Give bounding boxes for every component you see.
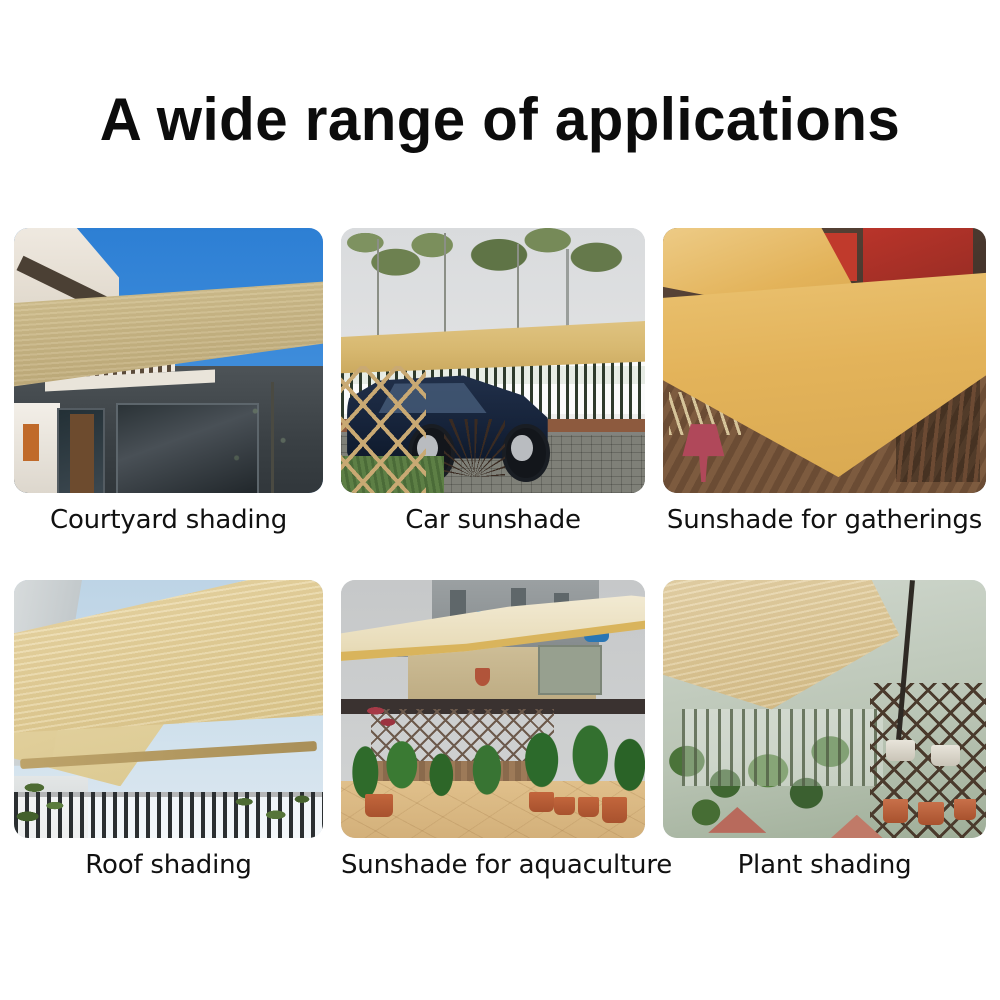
tree-trunk xyxy=(377,239,379,345)
photo-sunshade-for-aquaculture[interactable] xyxy=(341,580,645,838)
bamboo-trellis xyxy=(341,366,426,493)
gallery-item-caption: Car sunshade xyxy=(341,505,645,535)
wall-sign xyxy=(23,424,38,461)
terracotta-pot xyxy=(954,799,977,820)
gallery-item-car-sunshade[interactable]: Car sunshade xyxy=(341,228,645,580)
terracotta-pot xyxy=(918,802,944,825)
entry-door xyxy=(70,414,95,494)
gallery-item-roof-shading[interactable]: Roof shading xyxy=(14,580,323,888)
gallery-item-courtyard-shading[interactable]: Courtyard shading xyxy=(14,228,323,580)
spiky-plant xyxy=(444,419,505,477)
planter-pot xyxy=(931,745,960,766)
wheel-hub xyxy=(511,435,532,462)
gallery-item-caption: Courtyard shading xyxy=(14,505,323,535)
red-leaf-plant xyxy=(356,688,405,745)
terracotta-pot xyxy=(529,792,553,813)
foliage-right xyxy=(218,781,323,833)
gallery-item-caption: Roof shading xyxy=(14,850,323,880)
gallery-item-caption: Plant shading xyxy=(663,850,986,880)
gallery-item-plant-shading[interactable]: Plant shading xyxy=(663,580,986,888)
terracotta-pot xyxy=(602,797,626,823)
gallery-item-sunshade-for-aquaculture[interactable]: Sunshade for aquaculture xyxy=(341,580,645,888)
tree-trunk xyxy=(444,233,446,344)
photo-sunshade-for-gatherings[interactable] xyxy=(663,228,986,493)
terracotta-pot xyxy=(578,797,599,818)
garden-railing xyxy=(682,709,882,786)
bare-tree xyxy=(218,376,311,493)
application-gallery: Courtyard shading xyxy=(14,228,986,888)
foliage-left xyxy=(14,766,82,838)
photo-car-sunshade[interactable] xyxy=(341,228,645,493)
terracotta-pot xyxy=(554,797,575,815)
terracotta-pot xyxy=(883,799,909,822)
photo-plant-shading[interactable] xyxy=(663,580,986,838)
infographic-page: A wide range of applications C xyxy=(0,0,1000,1000)
photo-courtyard-shading[interactable] xyxy=(14,228,323,493)
terracotta-pot xyxy=(365,794,392,817)
photo-roof-shading[interactable] xyxy=(14,580,323,838)
gallery-item-caption: Sunshade for gatherings xyxy=(663,505,986,535)
planter-pot xyxy=(886,740,915,761)
page-title: A wide range of applications xyxy=(15,86,985,154)
gallery-item-caption: Sunshade for aquaculture xyxy=(341,850,645,880)
gallery-item-sunshade-for-gatherings[interactable]: Sunshade for gatherings xyxy=(663,228,986,580)
